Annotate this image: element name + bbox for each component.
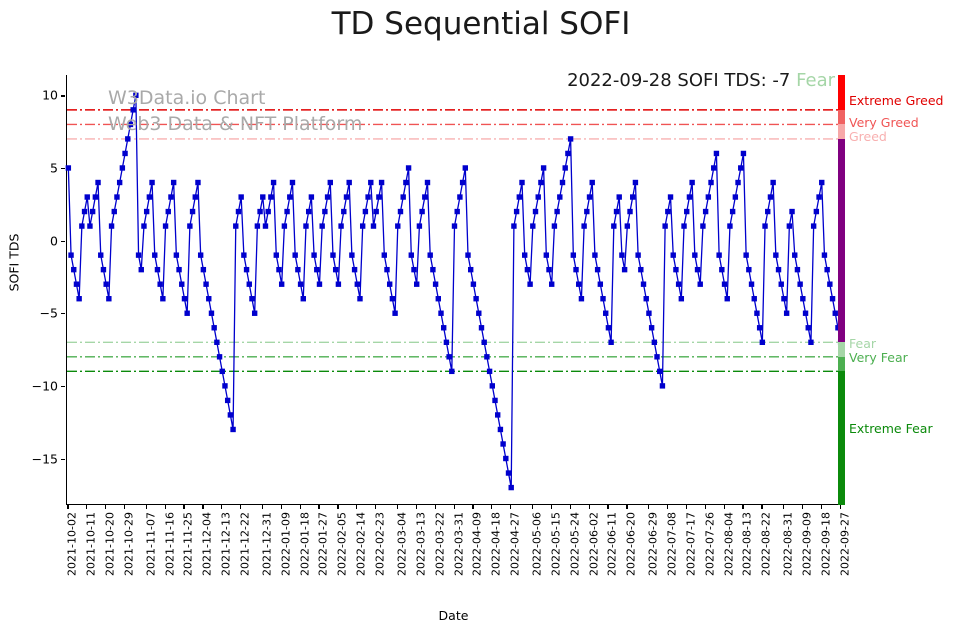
data-point xyxy=(568,136,573,141)
data-point xyxy=(133,93,138,98)
x-tick-label: 2022-05-24 xyxy=(568,512,581,576)
fear-band xyxy=(838,342,845,357)
data-point xyxy=(654,354,659,359)
x-tick-label: 2022-02-14 xyxy=(355,512,368,576)
data-point xyxy=(784,311,789,316)
y-tick-mark xyxy=(61,313,65,314)
data-point xyxy=(112,209,117,214)
y-tick-mark xyxy=(61,168,65,169)
x-tick-label: 2022-03-31 xyxy=(452,512,465,576)
threshold-label-extreme-greed: Extreme Greed xyxy=(849,93,943,108)
data-point xyxy=(727,223,732,228)
data-point xyxy=(384,267,389,272)
extreme-greed-band xyxy=(838,75,845,110)
x-tick-mark xyxy=(240,505,241,509)
data-point xyxy=(827,281,832,286)
x-tick-mark xyxy=(840,505,841,509)
y-tick-mark xyxy=(61,241,65,242)
x-tick-mark xyxy=(510,505,511,509)
x-tick-label: 2021-10-20 xyxy=(104,512,117,576)
data-point xyxy=(106,296,111,301)
data-point xyxy=(476,311,481,316)
data-point xyxy=(657,369,662,374)
data-point xyxy=(765,209,770,214)
data-point xyxy=(465,252,470,257)
data-point xyxy=(171,180,176,185)
data-point xyxy=(93,194,98,199)
data-point xyxy=(679,296,684,301)
x-tick-label: 2022-02-05 xyxy=(336,512,349,576)
data-point xyxy=(438,311,443,316)
data-point xyxy=(511,223,516,228)
x-tick-mark xyxy=(705,505,706,509)
x-tick-mark xyxy=(146,505,147,509)
data-point xyxy=(68,252,73,257)
x-tick-mark xyxy=(67,505,68,509)
data-point xyxy=(514,209,519,214)
data-point xyxy=(641,281,646,286)
data-point xyxy=(422,194,427,199)
data-point xyxy=(646,311,651,316)
data-point xyxy=(390,296,395,301)
data-point xyxy=(157,281,162,286)
data-point xyxy=(425,180,430,185)
data-point xyxy=(455,209,460,214)
x-tick-mark xyxy=(570,505,571,509)
data-point xyxy=(176,267,181,272)
data-point xyxy=(76,296,81,301)
data-point xyxy=(606,325,611,330)
data-point xyxy=(114,194,119,199)
series-markers xyxy=(66,93,844,491)
data-point xyxy=(635,252,640,257)
data-point xyxy=(103,281,108,286)
sentiment-colorbar xyxy=(838,75,845,505)
data-point xyxy=(619,252,624,257)
data-point xyxy=(581,223,586,228)
very-greed-band xyxy=(838,110,845,125)
data-point xyxy=(563,165,568,170)
data-point xyxy=(722,281,727,286)
data-point xyxy=(533,209,538,214)
x-tick-mark xyxy=(667,505,668,509)
data-point xyxy=(233,223,238,228)
data-point xyxy=(411,267,416,272)
data-point xyxy=(419,209,424,214)
data-point xyxy=(257,209,262,214)
data-point xyxy=(282,223,287,228)
data-point xyxy=(130,107,135,112)
data-point xyxy=(428,252,433,257)
data-point xyxy=(800,296,805,301)
data-point xyxy=(163,223,168,228)
data-point xyxy=(546,267,551,272)
data-point xyxy=(336,281,341,286)
data-point xyxy=(252,311,257,316)
data-point xyxy=(311,252,316,257)
data-point xyxy=(301,296,306,301)
data-point xyxy=(471,281,476,286)
data-point xyxy=(584,209,589,214)
x-tick-label: 2022-08-04 xyxy=(722,512,735,576)
data-point xyxy=(522,252,527,257)
data-point xyxy=(468,267,473,272)
y-tick-label: 5 xyxy=(50,160,58,175)
data-point xyxy=(760,340,765,345)
y-tick-mark xyxy=(61,459,65,460)
data-point xyxy=(649,325,654,330)
data-point xyxy=(473,296,478,301)
data-point xyxy=(638,267,643,272)
series-line-sofi-tds xyxy=(68,95,840,487)
data-point xyxy=(125,136,130,141)
chart-figure: TD Sequential SOFI 1050−5−10−15 SOFI TDS… xyxy=(0,0,962,633)
x-tick-label: 2021-12-04 xyxy=(201,512,214,576)
data-point xyxy=(525,267,530,272)
x-tick-label: 2022-03-22 xyxy=(433,512,446,576)
data-point xyxy=(222,383,227,388)
data-point xyxy=(214,340,219,345)
data-point xyxy=(66,165,71,170)
data-point xyxy=(746,267,751,272)
data-point xyxy=(409,252,414,257)
data-point xyxy=(444,340,449,345)
data-point xyxy=(565,151,570,156)
data-point xyxy=(295,267,300,272)
x-tick-mark xyxy=(375,505,376,509)
data-point xyxy=(668,194,673,199)
data-point xyxy=(155,267,160,272)
data-point xyxy=(725,296,730,301)
data-point xyxy=(625,223,630,228)
data-point xyxy=(430,267,435,272)
data-point xyxy=(752,296,757,301)
data-point xyxy=(166,209,171,214)
data-point xyxy=(538,180,543,185)
threshold-label-extreme-fear: Extreme Fear xyxy=(849,421,933,436)
data-point xyxy=(549,281,554,286)
data-point xyxy=(265,209,270,214)
data-point xyxy=(290,180,295,185)
data-point xyxy=(85,194,90,199)
data-point xyxy=(403,180,408,185)
data-point xyxy=(317,281,322,286)
x-tick-mark xyxy=(491,505,492,509)
x-tick-mark xyxy=(86,505,87,509)
data-point xyxy=(341,209,346,214)
data-point xyxy=(652,340,657,345)
data-point xyxy=(757,325,762,330)
x-tick-mark xyxy=(607,505,608,509)
data-point xyxy=(808,340,813,345)
x-tick-mark xyxy=(551,505,552,509)
data-point xyxy=(333,267,338,272)
data-point xyxy=(152,252,157,257)
data-point xyxy=(749,281,754,286)
data-point xyxy=(217,354,222,359)
x-tick-mark xyxy=(300,505,301,509)
data-point xyxy=(338,223,343,228)
data-point xyxy=(247,281,252,286)
threshold-label-very-greed: Very Greed xyxy=(849,115,919,130)
data-point xyxy=(74,281,79,286)
data-point xyxy=(349,252,354,257)
data-point xyxy=(203,281,208,286)
data-point xyxy=(193,194,198,199)
data-point xyxy=(714,151,719,156)
neutral-band xyxy=(838,139,845,342)
data-point xyxy=(179,281,184,286)
data-point xyxy=(303,223,308,228)
data-point xyxy=(198,252,203,257)
data-point xyxy=(360,223,365,228)
x-tick-label: 2022-01-09 xyxy=(279,512,292,576)
data-point xyxy=(330,252,335,257)
annotation-sentiment: Fear xyxy=(796,70,835,91)
data-point xyxy=(824,267,829,272)
x-tick-label: 2022-08-31 xyxy=(781,512,794,576)
data-point xyxy=(184,311,189,316)
data-point xyxy=(201,267,206,272)
data-point xyxy=(328,180,333,185)
data-point xyxy=(662,223,667,228)
x-tick-label: 2021-11-25 xyxy=(182,512,195,576)
data-point xyxy=(544,252,549,257)
data-point xyxy=(762,223,767,228)
x-tick-mark xyxy=(783,505,784,509)
threshold-label-fear: Fear xyxy=(849,336,876,351)
x-tick-label: 2022-04-09 xyxy=(471,512,484,576)
data-point xyxy=(379,180,384,185)
data-point xyxy=(781,296,786,301)
data-point xyxy=(452,223,457,228)
x-tick-mark xyxy=(356,505,357,509)
annotation-text: 2022-09-28 SOFI TDS: -7 xyxy=(567,70,790,91)
x-tick-mark xyxy=(435,505,436,509)
x-tick-label: 2022-08-22 xyxy=(760,512,773,576)
data-point xyxy=(95,180,100,185)
y-tick-label: −5 xyxy=(40,306,58,321)
data-point xyxy=(271,180,276,185)
x-tick-label: 2022-06-20 xyxy=(625,512,638,576)
data-point xyxy=(319,223,324,228)
data-point xyxy=(109,223,114,228)
x-tick-label: 2021-12-13 xyxy=(220,512,233,576)
data-point xyxy=(490,383,495,388)
data-point xyxy=(557,194,562,199)
data-point xyxy=(79,223,84,228)
x-tick-mark xyxy=(183,505,184,509)
data-point xyxy=(139,267,144,272)
y-tick-label: −15 xyxy=(32,451,58,466)
data-point xyxy=(395,223,400,228)
plot-canvas xyxy=(67,75,842,505)
data-point xyxy=(149,180,154,185)
x-tick-mark xyxy=(686,505,687,509)
data-point xyxy=(322,209,327,214)
data-point xyxy=(249,296,254,301)
data-point xyxy=(298,281,303,286)
data-point xyxy=(182,296,187,301)
x-axis-title: Date xyxy=(66,608,841,623)
x-tick-label: 2021-10-02 xyxy=(66,512,79,576)
data-point xyxy=(482,340,487,345)
plot-area xyxy=(66,75,841,505)
x-tick-label: 2022-09-27 xyxy=(838,512,851,576)
x-tick-label: 2022-04-18 xyxy=(490,512,503,576)
data-point xyxy=(773,252,778,257)
data-point xyxy=(595,267,600,272)
data-point xyxy=(417,223,422,228)
data-point xyxy=(530,223,535,228)
x-tick-mark xyxy=(281,505,282,509)
x-tick-label: 2022-06-11 xyxy=(606,512,619,576)
y-tick-label: 10 xyxy=(42,88,58,103)
data-point xyxy=(368,180,373,185)
data-point xyxy=(122,151,127,156)
data-point xyxy=(211,325,216,330)
data-point xyxy=(816,194,821,199)
x-tick-label: 2022-07-17 xyxy=(684,512,697,576)
data-point xyxy=(433,281,438,286)
data-point xyxy=(819,180,824,185)
data-point xyxy=(244,267,249,272)
x-tick-mark xyxy=(454,505,455,509)
data-point xyxy=(292,252,297,257)
x-tick-mark xyxy=(165,505,166,509)
data-point xyxy=(743,252,748,257)
data-point xyxy=(681,223,686,228)
x-tick-label: 2022-09-18 xyxy=(819,512,832,576)
data-point xyxy=(684,209,689,214)
data-point xyxy=(603,311,608,316)
data-point xyxy=(738,165,743,170)
data-point xyxy=(576,281,581,286)
data-point xyxy=(206,296,211,301)
current-value-annotation: 2022-09-28 SOFI TDS: -7 Fear xyxy=(567,70,835,91)
data-point xyxy=(495,412,500,417)
data-point xyxy=(660,383,665,388)
data-point xyxy=(498,427,503,432)
data-point xyxy=(617,194,622,199)
x-tick-label: 2021-11-16 xyxy=(163,512,176,576)
data-point xyxy=(622,267,627,272)
y-tick-mark xyxy=(61,95,65,96)
data-point xyxy=(284,209,289,214)
x-tick-label: 2021-10-11 xyxy=(85,512,98,576)
data-point xyxy=(811,223,816,228)
data-point xyxy=(309,194,314,199)
extreme-fear-band xyxy=(838,371,845,505)
data-point xyxy=(101,267,106,272)
data-point xyxy=(587,194,592,199)
data-point xyxy=(695,267,700,272)
data-point xyxy=(633,180,638,185)
data-point xyxy=(506,470,511,475)
data-point xyxy=(287,194,292,199)
x-tick-label: 2022-06-02 xyxy=(587,512,600,576)
data-point xyxy=(195,180,200,185)
data-point xyxy=(789,209,794,214)
data-point xyxy=(392,311,397,316)
data-point xyxy=(830,296,835,301)
x-tick-label: 2022-07-26 xyxy=(703,512,716,576)
data-point xyxy=(787,223,792,228)
x-tick-label: 2022-01-27 xyxy=(317,512,330,576)
data-point xyxy=(792,252,797,257)
x-tick-label: 2022-09-09 xyxy=(800,512,813,576)
x-tick-mark xyxy=(124,505,125,509)
data-point xyxy=(608,340,613,345)
x-tick-mark xyxy=(262,505,263,509)
x-tick-mark xyxy=(802,505,803,509)
data-point xyxy=(268,194,273,199)
data-point xyxy=(376,194,381,199)
data-point xyxy=(687,194,692,199)
data-point xyxy=(733,194,738,199)
data-point xyxy=(590,180,595,185)
data-point xyxy=(676,281,681,286)
data-point xyxy=(822,252,827,257)
data-point xyxy=(741,151,746,156)
data-point xyxy=(671,252,676,257)
x-tick-mark xyxy=(337,505,338,509)
x-tick-label: 2021-12-22 xyxy=(239,512,252,576)
very-fear-band xyxy=(838,357,845,372)
x-tick-mark xyxy=(724,505,725,509)
data-point xyxy=(716,252,721,257)
data-point xyxy=(371,223,376,228)
x-tick-mark xyxy=(532,505,533,509)
data-point xyxy=(814,209,819,214)
data-point xyxy=(673,267,678,272)
data-point xyxy=(276,267,281,272)
x-tick-label: 2022-01-18 xyxy=(298,512,311,576)
data-point xyxy=(571,252,576,257)
data-point xyxy=(436,296,441,301)
data-point xyxy=(387,281,392,286)
data-point xyxy=(168,194,173,199)
data-point xyxy=(406,165,411,170)
data-point xyxy=(71,267,76,272)
data-point xyxy=(803,311,808,316)
data-point xyxy=(87,223,92,228)
data-point xyxy=(573,267,578,272)
data-point xyxy=(700,223,705,228)
data-point xyxy=(220,369,225,374)
data-point xyxy=(806,325,811,330)
data-point xyxy=(579,296,584,301)
data-point xyxy=(644,296,649,301)
data-point xyxy=(735,180,740,185)
data-point xyxy=(536,194,541,199)
data-point xyxy=(692,252,697,257)
data-point xyxy=(711,165,716,170)
x-tick-mark xyxy=(416,505,417,509)
data-point xyxy=(600,296,605,301)
data-point xyxy=(174,252,179,257)
data-point xyxy=(355,281,360,286)
data-point xyxy=(527,281,532,286)
data-point xyxy=(225,398,230,403)
data-point xyxy=(279,281,284,286)
y-tick-label: −10 xyxy=(32,378,58,393)
x-tick-mark xyxy=(397,505,398,509)
x-tick-mark xyxy=(626,505,627,509)
data-point xyxy=(241,252,246,257)
data-point xyxy=(120,165,125,170)
data-point xyxy=(187,223,192,228)
